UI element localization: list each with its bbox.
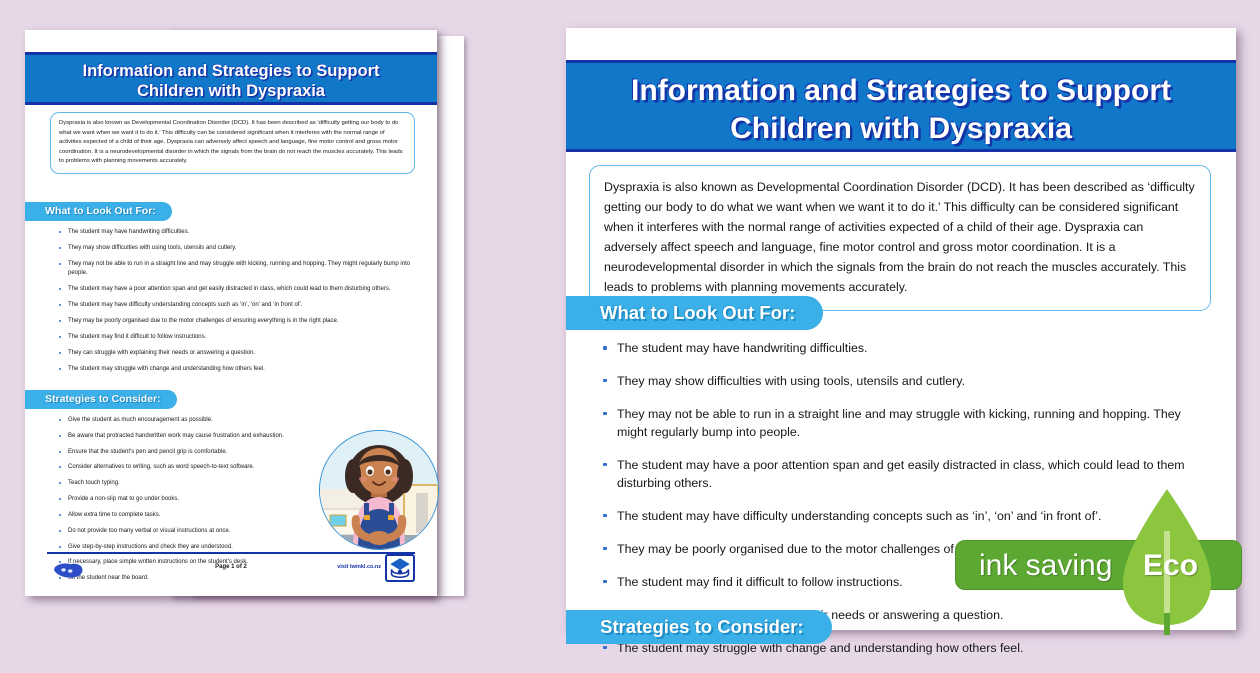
twinkl-logo-icon (385, 554, 415, 582)
ink-saving-eco-badge: ink saving Eco (955, 533, 1260, 595)
document-page-1[interactable]: Information and Strategies to Support Ch… (25, 30, 437, 596)
list-item: Do not provide too many verbal or visual… (59, 527, 329, 536)
section-heading-strategies-to-consider: Strategies to Consider: (25, 390, 177, 409)
list-item: The student may have handwriting difficu… (59, 228, 415, 237)
list-item: Give the student as much encouragement a… (59, 416, 329, 425)
list-item: The student may have a poor attention sp… (601, 457, 1204, 493)
section-heading-what-to-look-out-for: What to Look Out For: (25, 202, 172, 221)
intro-paragraph-text: Dyspraxia is also known as Developmental… (59, 120, 403, 164)
list-item: Allow extra time to complete tasks. (59, 511, 329, 520)
list-item: Teach touch typing. (59, 479, 329, 488)
look-out-for-list: The student may have handwriting difficu… (59, 228, 415, 381)
list-item: The student may have difficulty understa… (601, 508, 1204, 526)
list-item: Consider alternatives to writing, such a… (59, 463, 329, 472)
child-illustration (319, 430, 439, 550)
list-item: Provide a non-slip mat to go under books… (59, 495, 329, 504)
page-title-banner: Information and Strategies to Support Ch… (25, 52, 437, 105)
page-title-line1: Information and Strategies to Support (25, 61, 437, 81)
list-item: They may be poorly organised due to the … (59, 317, 415, 326)
list-item: The student may have difficulty understa… (59, 301, 415, 310)
page-title-banner: Information and Strategies to Support Ch… (566, 60, 1236, 152)
list-item: The student may have handwriting difficu… (601, 340, 1204, 358)
list-item: Sit the student near the board. (59, 574, 329, 583)
list-item: Give step-by-step instructions and check… (59, 543, 329, 552)
page-top-margin (566, 28, 1236, 60)
list-item: The student may struggle with change and… (59, 365, 415, 374)
section-heading-strategies-to-consider: Strategies to Consider: (566, 610, 832, 644)
eco-badge-eco-label: Eco (1143, 549, 1198, 583)
page-title-line2: Children with Dyspraxia (25, 81, 437, 101)
section-heading-what-to-look-out-for: What to Look Out For: (566, 296, 823, 330)
list-item: They can struggle with explaining their … (59, 349, 415, 358)
list-item: They may show difficulties with using to… (59, 244, 415, 253)
list-item: They may not be able to run in a straigh… (59, 260, 415, 277)
left-document-stack: hildren with Dyspraxia an perform the ta… (0, 0, 560, 630)
intro-paragraph-text: Dyspraxia is also known as Developmental… (604, 180, 1195, 294)
eco-badge-ink-saving-label: ink saving (979, 549, 1112, 583)
page-top-margin (25, 30, 437, 52)
list-item: They may not be able to run in a straigh… (601, 406, 1204, 442)
child-illustration-svg (320, 431, 438, 549)
page-title-line1: Information and Strategies to Support (566, 72, 1236, 110)
footer-visit-label[interactable]: visit twinkl.co.nz (337, 564, 381, 570)
list-item: Be aware that protracted handwritten wor… (59, 432, 329, 441)
list-item: Ensure that the student’s pen and pencil… (59, 448, 329, 457)
footer-divider (47, 552, 415, 554)
page-title-line2: Children with Dyspraxia (566, 110, 1236, 148)
list-item: They may show difficulties with using to… (601, 373, 1204, 391)
list-item: The student may have a poor attention sp… (59, 285, 415, 294)
intro-paragraph-box: Dyspraxia is also known as Developmental… (50, 112, 415, 174)
list-item: The student may find it difficult to fol… (59, 333, 415, 342)
intro-paragraph-box: Dyspraxia is also known as Developmental… (589, 165, 1211, 311)
